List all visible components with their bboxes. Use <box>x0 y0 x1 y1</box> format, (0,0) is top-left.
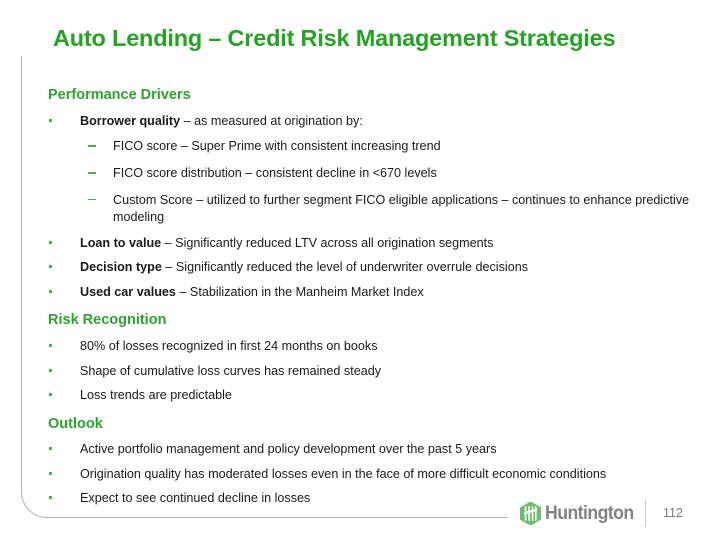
list-item: 80% of losses recognized in first 24 mon… <box>48 338 696 355</box>
brand-wordmark: Huntington <box>545 504 634 523</box>
bullet-list-performance-drivers: Borrower quality – as measured at origin… <box>48 113 696 301</box>
list-item: Loan to value – Significantly reduced LT… <box>48 235 696 252</box>
square-bullet-icon <box>49 472 52 475</box>
list-item: Origination quality has moderated losses… <box>48 466 696 483</box>
square-bullet-icon <box>49 344 52 347</box>
list-item-lead: Borrower quality <box>80 114 180 128</box>
list-item: Decision type – Significantly reduced th… <box>48 259 696 276</box>
brand-logo: Huntington <box>520 500 640 526</box>
list-item: Active portfolio management and policy d… <box>48 441 696 458</box>
list-item: Used car values – Stabilization in the M… <box>48 284 696 301</box>
list-item: Shape of cumulative loss curves has rema… <box>48 363 696 380</box>
list-item-text: Loss trends are predictable <box>80 388 232 402</box>
footer-rule-divider <box>400 517 508 518</box>
section-heading-performance-drivers: Performance Drivers <box>48 88 696 103</box>
sub-bullet-list-borrower-quality: FICO score – Super Prime with consistent… <box>80 138 696 226</box>
list-item-text: Shape of cumulative loss curves has rema… <box>80 364 381 378</box>
list-item-lead: Decision type <box>80 260 162 274</box>
bullet-list-risk-recognition: 80% of losses recognized in first 24 mon… <box>48 338 696 404</box>
list-item-text: FICO score distribution – consistent dec… <box>113 166 437 180</box>
bullet-list-outlook: Active portfolio management and policy d… <box>48 441 696 507</box>
square-bullet-icon <box>49 265 52 268</box>
list-item-text: – Significantly reduced LTV across all o… <box>161 236 493 250</box>
square-bullet-icon <box>49 447 52 450</box>
list-item-text: Origination quality has moderated losses… <box>80 467 606 481</box>
dash-bullet-icon <box>88 172 96 174</box>
list-item-text: – as measured at origination by: <box>180 114 363 128</box>
section-heading-outlook: Outlook <box>48 417 696 432</box>
dash-bullet-icon <box>88 199 96 201</box>
list-item: FICO score – Super Prime with consistent… <box>80 138 696 155</box>
list-item-text: – Significantly reduced the level of und… <box>162 260 528 274</box>
list-item: FICO score distribution – consistent dec… <box>80 165 696 182</box>
list-item-text: 80% of losses recognized in first 24 mon… <box>80 339 378 353</box>
square-bullet-icon <box>49 393 52 396</box>
footer-vertical-divider <box>645 499 646 527</box>
list-item: Custom Score – utilized to further segme… <box>80 192 696 226</box>
list-item-lead: Loan to value <box>80 236 161 250</box>
page-number: 112 <box>663 506 683 520</box>
square-bullet-icon <box>49 119 52 122</box>
list-item-text: Active portfolio management and policy d… <box>80 442 497 456</box>
page-title: Auto Lending – Credit Risk Management St… <box>53 25 693 52</box>
list-item-lead: Used car values <box>80 285 176 299</box>
slide-body: Performance Drivers Borrower quality – a… <box>48 88 696 515</box>
list-item-text: Expect to see continued decline in losse… <box>80 491 310 505</box>
square-bullet-icon <box>49 496 52 499</box>
list-item: Loss trends are predictable <box>48 387 696 404</box>
square-bullet-icon <box>49 290 52 293</box>
list-item-text: – Stabilization in the Manheim Market In… <box>176 285 424 299</box>
list-item: Borrower quality – as measured at origin… <box>48 113 696 226</box>
list-item-text: Custom Score – utilized to further segme… <box>113 193 689 224</box>
huntington-hexagon-logo-icon <box>520 502 541 525</box>
slide-canvas: Auto Lending – Credit Risk Management St… <box>0 0 720 540</box>
list-item-text: FICO score – Super Prime with consistent… <box>113 139 441 153</box>
section-heading-risk-recognition: Risk Recognition <box>48 313 696 328</box>
square-bullet-icon <box>49 369 52 372</box>
square-bullet-icon <box>49 241 52 244</box>
dash-bullet-icon <box>88 145 96 147</box>
